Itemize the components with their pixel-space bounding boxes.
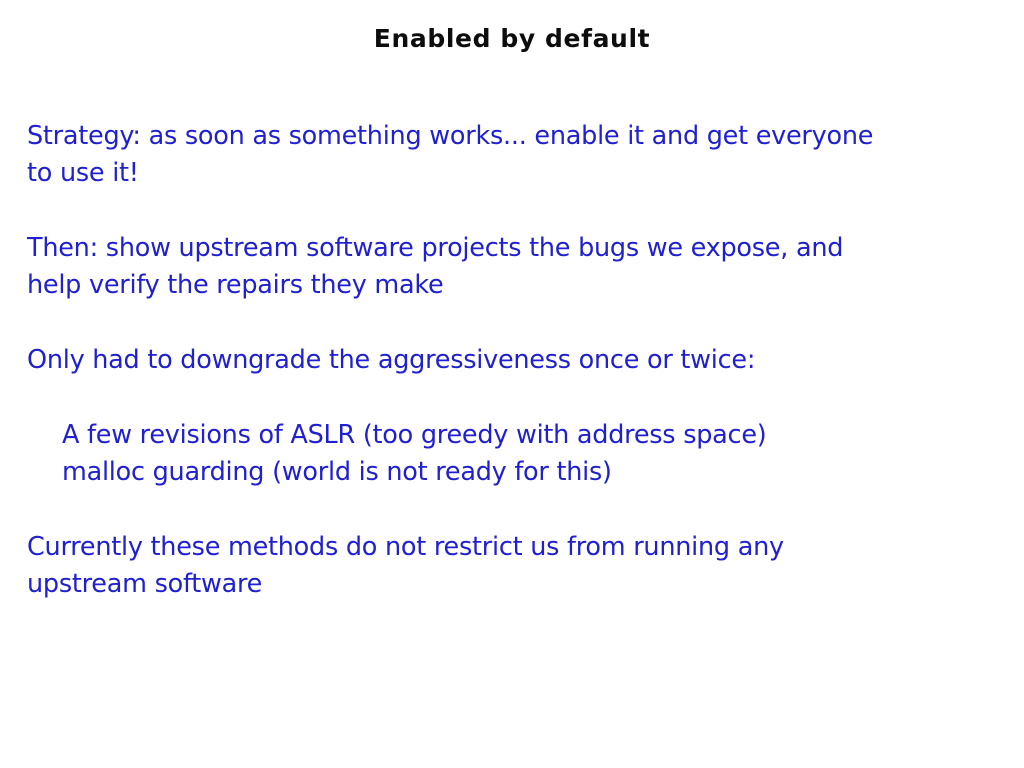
paragraph-line: help verify the repairs they make: [27, 267, 977, 304]
paragraph-line: malloc guarding (world is not ready for …: [62, 454, 977, 491]
page-title: Enabled by default: [0, 24, 1024, 53]
paragraph-line: A few revisions of ASLR (too greedy with…: [62, 417, 977, 454]
paragraph-strategy: Strategy: as soon as something works... …: [27, 118, 977, 192]
paragraph-line: upstream software: [27, 566, 977, 603]
paragraph-line: to use it!: [27, 155, 977, 192]
paragraph-examples: A few revisions of ASLR (too greedy with…: [62, 417, 977, 491]
paragraph-line: Currently these methods do not restrict …: [27, 529, 977, 566]
slide-canvas: Enabled by default Strategy: as soon as …: [0, 0, 1024, 768]
paragraph-line: Then: show upstream software projects th…: [27, 230, 977, 267]
paragraph-line: Strategy: as soon as something works... …: [27, 118, 977, 155]
paragraph-line: Only had to downgrade the aggressiveness…: [27, 342, 977, 379]
slide-body: Strategy: as soon as something works... …: [27, 118, 977, 603]
paragraph-downgrade: Only had to downgrade the aggressiveness…: [27, 342, 977, 379]
paragraph-currently: Currently these methods do not restrict …: [27, 529, 977, 603]
paragraph-then: Then: show upstream software projects th…: [27, 230, 977, 304]
